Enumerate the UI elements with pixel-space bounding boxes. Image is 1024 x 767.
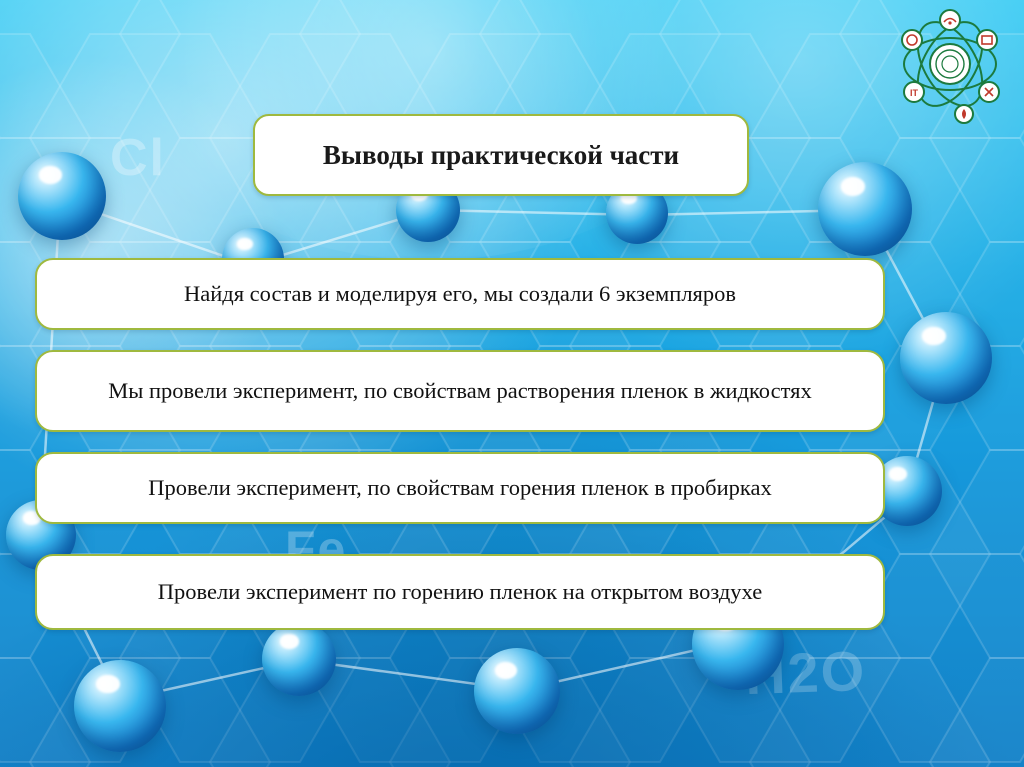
molecule-sphere [18,152,106,240]
conclusion-item-2: Мы провели эксперимент, по свойствам рас… [35,350,885,432]
molecule-sphere [900,312,992,404]
conclusion-item-3: Провели эксперимент, по свойствам горени… [35,452,885,524]
molecule-sphere [74,660,166,752]
logo-node [940,10,960,30]
logo-node [979,82,999,102]
logo-node-label: IT [910,88,919,98]
slide-title-box: Выводы практической части [253,114,749,196]
logo-node [955,105,973,123]
presentation-slide: Cl Fe H2O [0,0,1024,767]
atom-logo: IT [890,6,1010,124]
logo-node [977,30,997,50]
conclusion-item-4-text: Провели эксперимент по горению пленок на… [63,577,857,606]
molecule-sphere [818,162,912,256]
conclusion-item-3-text: Провели эксперимент, по свойствам горени… [63,473,857,502]
page-title: Выводы практической части [323,139,679,171]
logo-node: IT [904,82,924,102]
conclusion-item-1-text: Найдя состав и моделируя его, мы создали… [63,279,857,308]
molecule-sphere [262,622,336,696]
logo-node [902,30,922,50]
conclusion-item-1: Найдя состав и моделируя его, мы создали… [35,258,885,330]
conclusion-item-4: Провели эксперимент по горению пленок на… [35,554,885,630]
conclusion-item-2-text: Мы провели эксперимент, по свойствам рас… [63,376,857,405]
molecule-sphere [474,648,560,734]
